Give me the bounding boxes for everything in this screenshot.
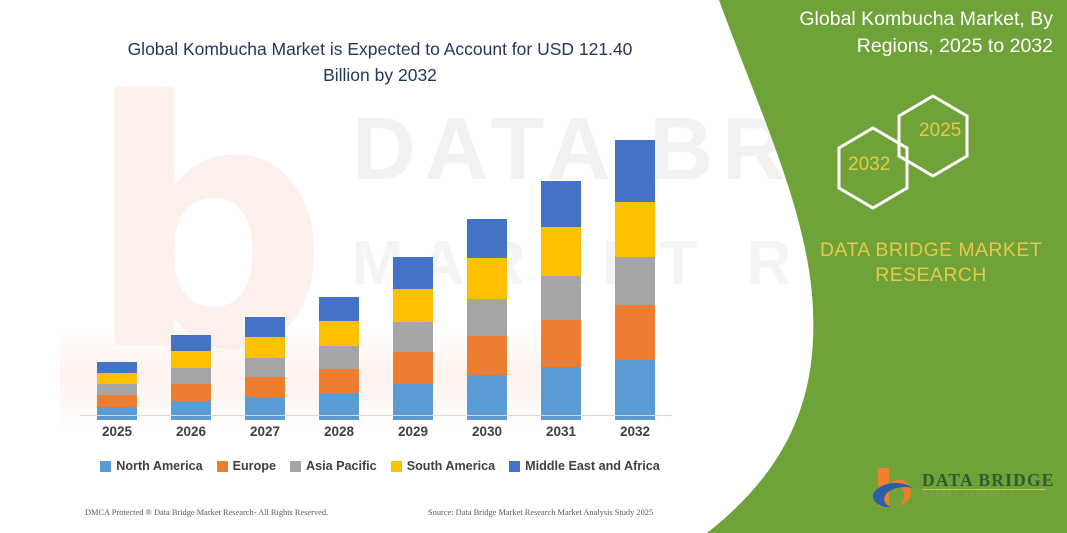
bar-segment xyxy=(97,384,137,395)
bar-segment xyxy=(319,297,359,321)
legend-swatch-icon xyxy=(509,461,520,472)
footer-source: Source: Data Bridge Market Research Mark… xyxy=(428,508,653,517)
bar-segment xyxy=(171,351,211,368)
bar-2030 xyxy=(467,219,507,420)
page-title: Global Kombucha Market is Expected to Ac… xyxy=(110,36,650,88)
infographic-canvas: b DATA BRIDGE MARKET RESEARCH Global Kom… xyxy=(0,0,1067,533)
logo-wordmark: DATA BRIDGE xyxy=(922,470,1055,491)
bar-segment xyxy=(467,258,507,299)
hexagon-group: 2025 2032 xyxy=(815,92,995,212)
bar-segment xyxy=(245,317,285,337)
bar-segment xyxy=(97,373,137,384)
legend-item[interactable]: North America xyxy=(100,459,202,473)
legend-item[interactable]: Europe xyxy=(217,459,276,473)
bar-segment xyxy=(393,257,433,289)
bar-segment xyxy=(97,362,137,373)
bar-segment xyxy=(541,181,581,227)
bar-segment xyxy=(541,320,581,367)
bar-segment xyxy=(171,384,211,401)
chart-legend: North AmericaEuropeAsia PacificSouth Ame… xyxy=(80,455,680,477)
legend-swatch-icon xyxy=(391,461,402,472)
bar-segment xyxy=(541,367,581,420)
hexagon-label-end: 2032 xyxy=(848,154,890,176)
bar-2025 xyxy=(97,362,137,420)
bar-segment xyxy=(393,289,433,322)
panel-title: Global Kombucha Market, By Regions, 2025… xyxy=(725,6,1053,60)
bar-segment xyxy=(467,299,507,336)
bar-segment xyxy=(245,377,285,397)
bar-segment xyxy=(615,202,655,257)
x-axis-label-2032: 2032 xyxy=(605,424,665,439)
stacked-bar-chart xyxy=(80,110,680,420)
bar-segment xyxy=(541,276,581,320)
legend-label: South America xyxy=(407,459,495,473)
bar-segment xyxy=(97,407,137,420)
bar-segment xyxy=(97,395,137,407)
bar-segment xyxy=(171,335,211,351)
bar-segment xyxy=(171,368,211,384)
panel-brand-text: DATA BRIDGE MARKET RESEARCH xyxy=(800,238,1062,288)
legend-swatch-icon xyxy=(100,461,111,472)
bar-2029 xyxy=(393,257,433,420)
legend-label: Middle East and Africa xyxy=(525,459,660,473)
footer-copyright: DMCA Protected ® Data Bridge Market Rese… xyxy=(85,508,328,517)
x-axis-label-2030: 2030 xyxy=(457,424,517,439)
x-axis-label-2028: 2028 xyxy=(309,424,369,439)
x-axis-line xyxy=(80,415,672,416)
legend-label: Asia Pacific xyxy=(306,459,377,473)
bar-segment xyxy=(467,375,507,420)
legend-label: Europe xyxy=(233,459,276,473)
legend-item[interactable]: Asia Pacific xyxy=(290,459,377,473)
bar-2031 xyxy=(541,181,581,420)
legend-item[interactable]: Middle East and Africa xyxy=(509,459,660,473)
bar-segment xyxy=(245,397,285,420)
bar-segment xyxy=(615,360,655,420)
legend-swatch-icon xyxy=(217,461,228,472)
bar-segment xyxy=(319,321,359,346)
bar-2028 xyxy=(319,297,359,420)
hexagon-label-start: 2025 xyxy=(919,120,961,142)
bar-segment xyxy=(245,358,285,377)
x-axis-label-2027: 2027 xyxy=(235,424,295,439)
x-axis-label-2026: 2026 xyxy=(161,424,221,439)
bar-segment xyxy=(467,219,507,258)
bar-segment xyxy=(393,352,433,384)
legend-label: North America xyxy=(116,459,202,473)
data-bridge-logo: DATA BRIDGE MARKET RESEARCH xyxy=(872,466,1052,514)
bar-2032 xyxy=(615,140,655,420)
legend-item[interactable]: South America xyxy=(391,459,495,473)
bar-segment xyxy=(467,336,507,375)
x-axis-label-2031: 2031 xyxy=(531,424,591,439)
bar-segment xyxy=(541,227,581,276)
bar-segment xyxy=(393,322,433,352)
legend-swatch-icon xyxy=(290,461,301,472)
bar-segment xyxy=(615,257,655,305)
bar-segment xyxy=(615,140,655,202)
x-axis-labels: 20252026202720282029203020312032 xyxy=(80,424,672,446)
x-axis-label-2029: 2029 xyxy=(383,424,443,439)
x-axis-label-2025: 2025 xyxy=(87,424,147,439)
bar-segment xyxy=(319,346,359,369)
logo-tagline: MARKET RESEARCH xyxy=(922,491,1015,498)
bar-segment xyxy=(245,337,285,358)
bar-2026 xyxy=(171,335,211,420)
bar-segment xyxy=(171,401,211,420)
bar-segment xyxy=(319,369,359,393)
bar-segment xyxy=(615,305,655,360)
bar-2027 xyxy=(245,317,285,420)
logo-divider xyxy=(922,489,1046,490)
logo-mark-icon xyxy=(872,466,920,512)
